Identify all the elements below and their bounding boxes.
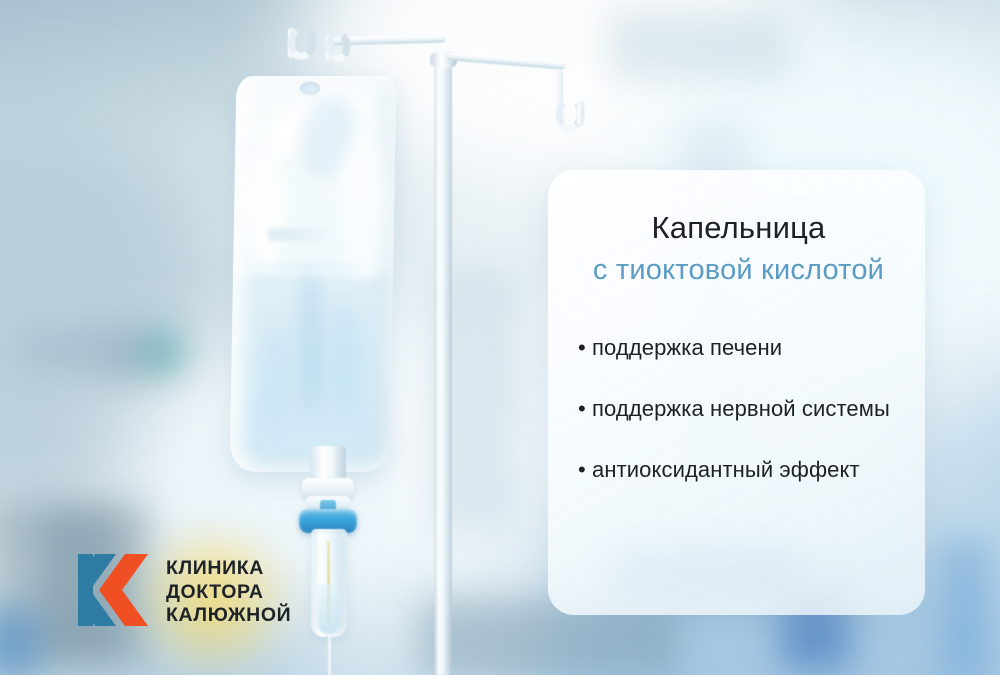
benefits-list: • поддержка печени • поддержка нервной с… <box>578 333 899 484</box>
info-card: Капельница с тиоктовой кислотой • поддер… <box>548 170 925 615</box>
iv-hook-right-icon <box>555 96 584 133</box>
drip-chamber-fluid <box>318 584 339 634</box>
page-title: Капельница <box>578 210 899 247</box>
list-item: • поддержка печени <box>578 333 899 362</box>
iv-hook-tip-right <box>577 100 584 126</box>
iv-hook-left-icon <box>325 29 351 63</box>
logo-line-three: КАЛЮЖНОЙ <box>166 604 291 628</box>
iv-hook-stem-far <box>288 28 295 58</box>
clinic-logo-text: КЛИНИКА ДОКТОРА КАЛЮЖНОЙ <box>166 557 291 628</box>
iv-bag-hang-hole <box>300 82 320 95</box>
blurred-doorway <box>430 270 520 530</box>
iv-tubing <box>327 634 332 675</box>
iv-bag-blue-tint-one <box>300 270 322 420</box>
iv-hook-far-icon <box>286 23 318 62</box>
logo-line-two: ДОКТОРА <box>166 581 291 605</box>
iv-hook-stem-right <box>556 70 563 104</box>
iv-bag-fluid-level <box>236 264 388 269</box>
page-subtitle: с тиоктовой кислотой <box>578 253 899 288</box>
iv-bag-blue-tint-three <box>268 320 286 430</box>
blurred-teal-equipment <box>140 332 184 374</box>
blurred-right-strip <box>940 540 990 675</box>
iv-hook-stem-left <box>326 34 333 60</box>
blurred-shelf-box <box>100 335 140 381</box>
promo-banner: Капельница с тиоктовой кислотой • поддер… <box>0 0 1000 675</box>
iv-bag-fold-four <box>340 130 386 280</box>
iv-pole-arm-left <box>328 35 446 46</box>
list-item: • антиоксидантный эффект <box>578 455 899 484</box>
blur-blob-left-cool <box>0 120 240 540</box>
iv-bag-embossed-text <box>268 228 330 241</box>
clinic-logo[interactable]: КЛИНИКА ДОКТОРА КАЛЮЖНОЙ <box>78 552 291 633</box>
iv-pole-post <box>434 60 452 675</box>
iv-bag-blue-tint-two <box>330 300 360 420</box>
list-item: • поддержка нервной системы <box>578 394 899 423</box>
iv-pole-collar <box>430 52 457 68</box>
iv-pole-arm-right <box>446 52 566 70</box>
logo-line-one: КЛИНИКА <box>166 557 291 581</box>
double-chevron-k-mark-icon <box>78 552 152 633</box>
iv-bag-fold-three <box>246 150 286 270</box>
blurred-shelf <box>20 330 170 370</box>
blurred-window <box>610 10 790 80</box>
blurred-blue-object-left <box>0 610 40 675</box>
